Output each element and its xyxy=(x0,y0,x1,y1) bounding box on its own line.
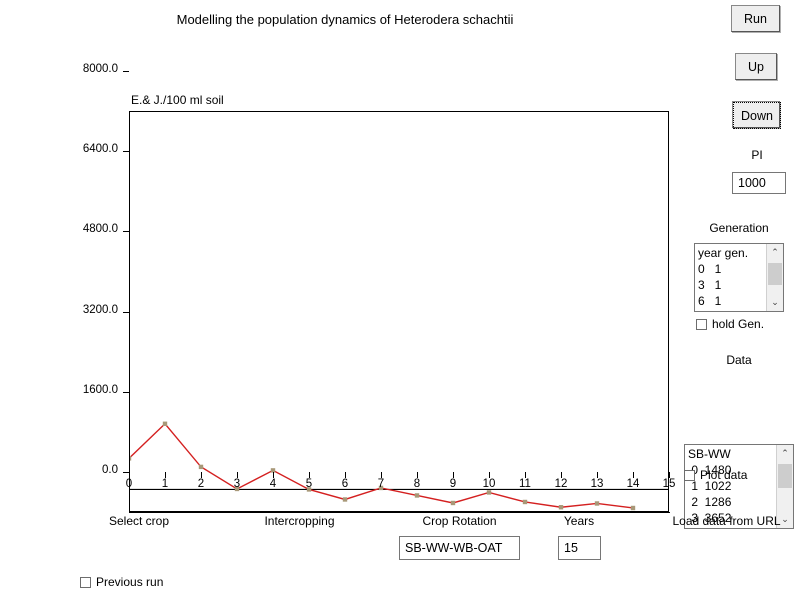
y-tick-label: 6400.0 xyxy=(30,143,118,155)
plot-data-checkbox[interactable]: Plot data xyxy=(684,468,747,482)
application-window: Modelling the population dynamics of Het… xyxy=(0,0,800,600)
scrollbar-thumb[interactable] xyxy=(778,464,792,488)
x-tick-mark xyxy=(201,472,202,478)
data-label: Data xyxy=(689,353,789,367)
checkbox-box[interactable] xyxy=(684,470,695,481)
chart-panel: E.& J./100 ml soil 0.01600.03200.04800.0… xyxy=(0,40,690,500)
generation-row[interactable]: 0 1 xyxy=(698,261,766,277)
up-button-label: Up xyxy=(736,54,776,79)
data-row[interactable]: 2 1286 xyxy=(688,494,776,510)
checkbox-box[interactable] xyxy=(696,319,707,330)
years-label: Years xyxy=(548,514,610,528)
x-tick-mark xyxy=(309,472,310,478)
x-tick-label: 15 xyxy=(654,478,684,490)
generation-scrollbar[interactable]: ⌃ ⌄ xyxy=(766,244,783,311)
x-tick-label: 9 xyxy=(438,478,468,490)
generation-row[interactable]: 3 1 xyxy=(698,277,766,293)
generation-label: Generation xyxy=(689,221,789,235)
plot-data-label: Plot data xyxy=(700,468,747,482)
x-tick-label: 12 xyxy=(546,478,576,490)
years-input[interactable] xyxy=(558,536,601,560)
x-tick-mark xyxy=(345,472,346,478)
x-axis-line xyxy=(129,512,670,513)
scroll-down-icon[interactable]: ⌄ xyxy=(767,294,783,311)
x-tick-mark xyxy=(417,472,418,478)
x-tick-mark xyxy=(165,472,166,478)
data-point-marker xyxy=(487,490,491,494)
x-tick-mark xyxy=(273,472,274,478)
y-tick-label: 8000.0 xyxy=(30,63,118,75)
x-tick-mark xyxy=(525,472,526,478)
y-tick-label: 0.0 xyxy=(30,464,118,476)
y-axis-line xyxy=(129,111,130,513)
x-tick-mark xyxy=(381,472,382,478)
y-tick-mark xyxy=(123,312,129,313)
up-button[interactable]: Up xyxy=(735,53,777,80)
x-tick-label: 5 xyxy=(294,478,324,490)
crop-rotation-input[interactable] xyxy=(399,536,520,560)
data-point-marker xyxy=(523,500,527,504)
pi-input[interactable] xyxy=(732,172,786,194)
y-axis-caption: E.& J./100 ml soil xyxy=(131,93,224,107)
data-point-marker xyxy=(631,506,635,510)
data-point-marker xyxy=(415,493,419,497)
x-tick-mark xyxy=(597,472,598,478)
y-tick-mark xyxy=(123,231,129,232)
scroll-up-icon[interactable]: ⌃ xyxy=(767,244,783,261)
previous-run-checkbox[interactable]: Previous run xyxy=(80,575,163,589)
scroll-up-icon[interactable]: ⌃ xyxy=(777,445,793,462)
crop-rotation-label: Crop Rotation xyxy=(399,514,520,528)
run-button[interactable]: Run xyxy=(731,5,780,32)
data-point-marker xyxy=(451,501,455,505)
data-point-marker xyxy=(199,465,203,469)
series-markers xyxy=(129,422,635,511)
down-button-label: Down xyxy=(733,102,781,129)
checkbox-box[interactable] xyxy=(80,577,91,588)
load-url-label: Load data from URL xyxy=(655,514,798,528)
x-tick-label: 8 xyxy=(402,478,432,490)
y-tick-mark xyxy=(123,151,129,152)
x-tick-label: 3 xyxy=(222,478,252,490)
select-crop-label: Select crop xyxy=(79,514,199,528)
x-tick-mark xyxy=(489,472,490,478)
generation-row[interactable]: year gen. xyxy=(698,245,766,261)
x-tick-label: 13 xyxy=(582,478,612,490)
x-tick-mark xyxy=(669,472,670,478)
series-polyline xyxy=(129,424,633,508)
pi-label: PI xyxy=(735,148,779,162)
x-tick-label: 1 xyxy=(150,478,180,490)
y-tick-mark xyxy=(123,71,129,72)
x-tick-label: 11 xyxy=(510,478,540,490)
hold-generation-checkbox[interactable]: hold Gen. xyxy=(696,317,764,331)
x-tick-mark xyxy=(453,472,454,478)
x-tick-label: 2 xyxy=(186,478,216,490)
x-tick-mark xyxy=(129,472,130,478)
x-tick-label: 4 xyxy=(258,478,288,490)
y-tick-label: 3200.0 xyxy=(30,304,118,316)
y-tick-label: 1600.0 xyxy=(30,384,118,396)
data-point-marker xyxy=(163,422,167,426)
scrollbar-thumb[interactable] xyxy=(768,263,782,285)
hold-generation-label: hold Gen. xyxy=(712,317,764,331)
intercropping-label: Intercropping xyxy=(239,514,360,528)
chart-plot xyxy=(129,111,669,512)
data-row[interactable]: SB-WW xyxy=(688,446,776,462)
data-point-marker xyxy=(595,501,599,505)
generation-rows: year gen.0 13 16 1 xyxy=(695,244,766,311)
data-point-marker xyxy=(559,505,563,509)
page-title: Modelling the population dynamics of Het… xyxy=(0,12,690,27)
y-tick-label: 4800.0 xyxy=(30,223,118,235)
y-tick-mark xyxy=(123,392,129,393)
generation-row[interactable]: 6 1 xyxy=(698,293,766,309)
x-tick-label: 10 xyxy=(474,478,504,490)
x-tick-mark xyxy=(237,472,238,478)
x-tick-label: 6 xyxy=(330,478,360,490)
x-tick-label: 0 xyxy=(114,478,144,490)
previous-run-label: Previous run xyxy=(96,575,163,589)
x-tick-mark xyxy=(633,472,634,478)
generation-listbox[interactable]: year gen.0 13 16 1 ⌃ ⌄ xyxy=(694,243,784,312)
run-button-label: Run xyxy=(732,6,779,31)
x-tick-mark xyxy=(561,472,562,478)
down-button[interactable]: Down xyxy=(732,101,780,128)
x-tick-label: 7 xyxy=(366,478,396,490)
data-point-marker xyxy=(343,497,347,501)
x-tick-label: 14 xyxy=(618,478,648,490)
